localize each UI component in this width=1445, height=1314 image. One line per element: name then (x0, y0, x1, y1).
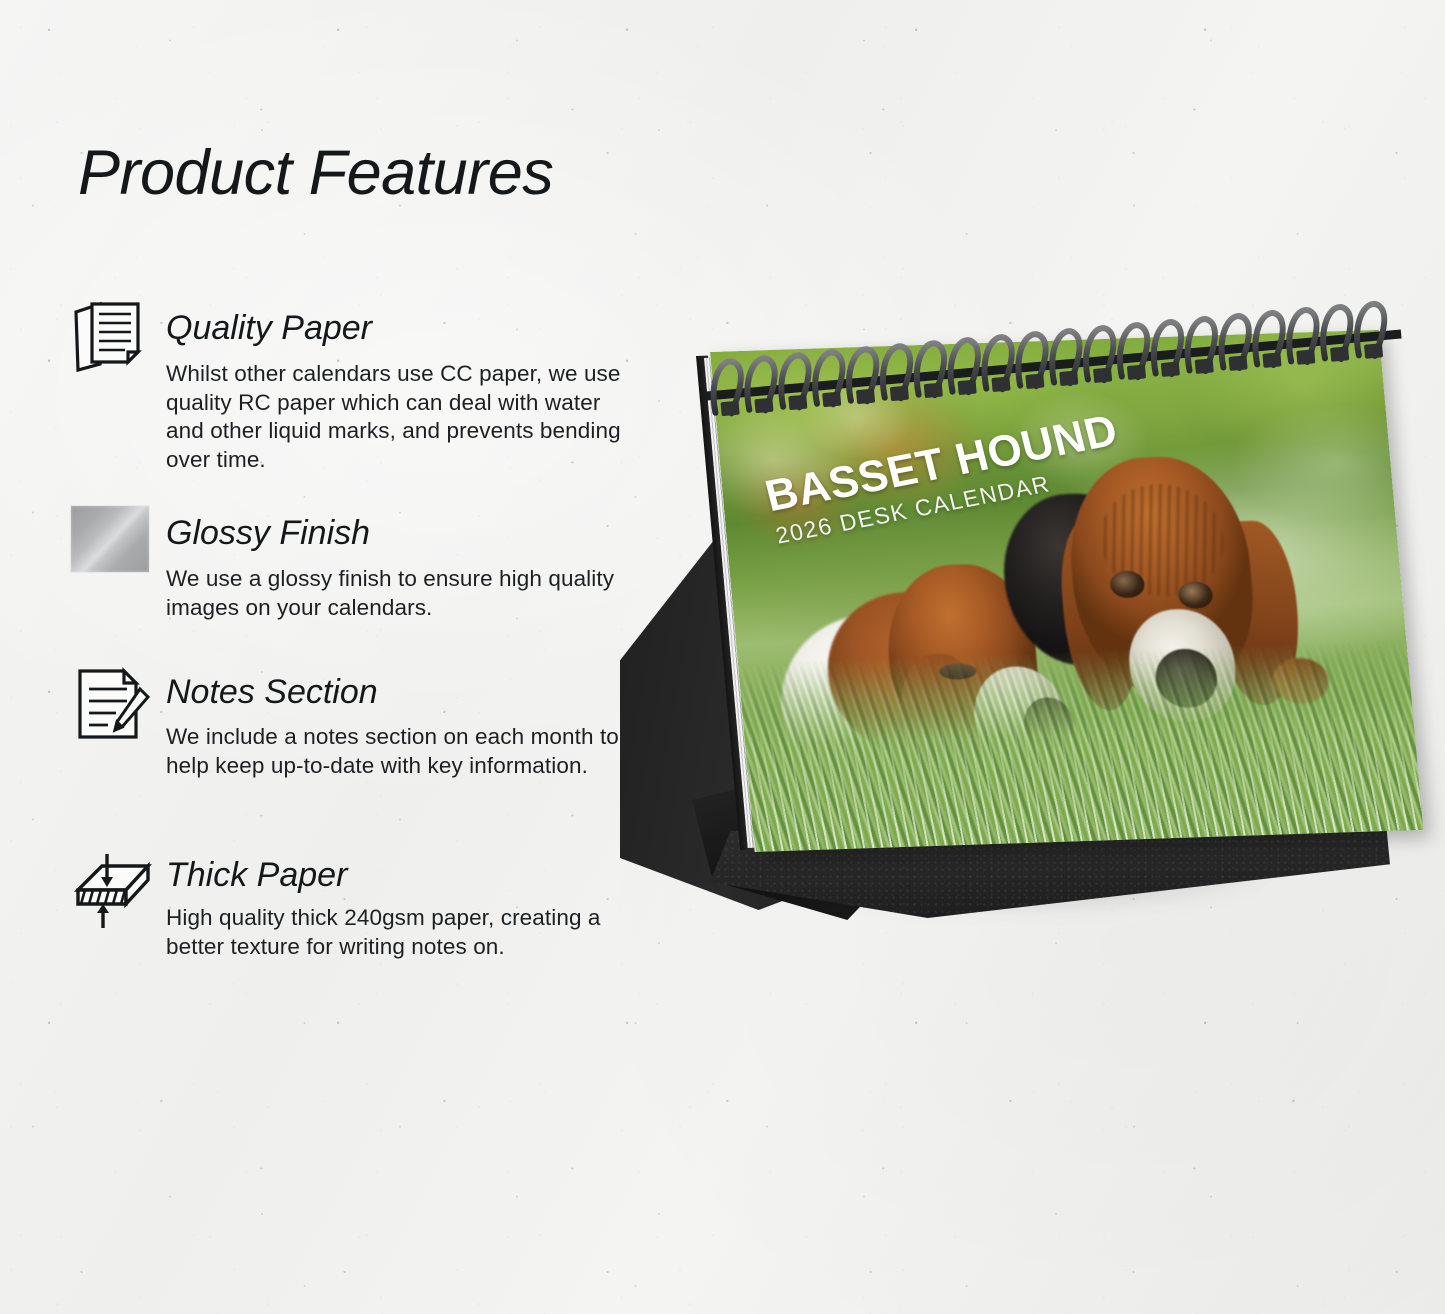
feature-title: Glossy Finish (166, 516, 370, 550)
feature-description: High quality thick 240gsm paper, creatin… (166, 904, 636, 961)
cover-photo-grass-tips (743, 700, 1423, 852)
feature-description: We use a glossy finish to ensure high qu… (166, 565, 636, 622)
glossy-swatch-icon (70, 505, 150, 573)
feature-description: We include a notes section on each month… (166, 723, 636, 780)
desk-calendar-mockup: BASSET HOUND 2026 DESK CALENDAR (600, 330, 1430, 1010)
document-pencil-icon (70, 665, 156, 745)
paper-thickness-icon (70, 850, 156, 930)
features-panel: Product Features Quality Paper Whilst (0, 0, 660, 1314)
feature-title: Notes Section (166, 675, 378, 709)
feature-description: Whilst other calendars use CC paper, we … (166, 360, 636, 474)
stacked-paper-icon (70, 298, 156, 378)
feature-title: Quality Paper (166, 311, 372, 345)
feature-title: Thick Paper (166, 858, 347, 892)
page-title: Product Features (78, 137, 553, 209)
